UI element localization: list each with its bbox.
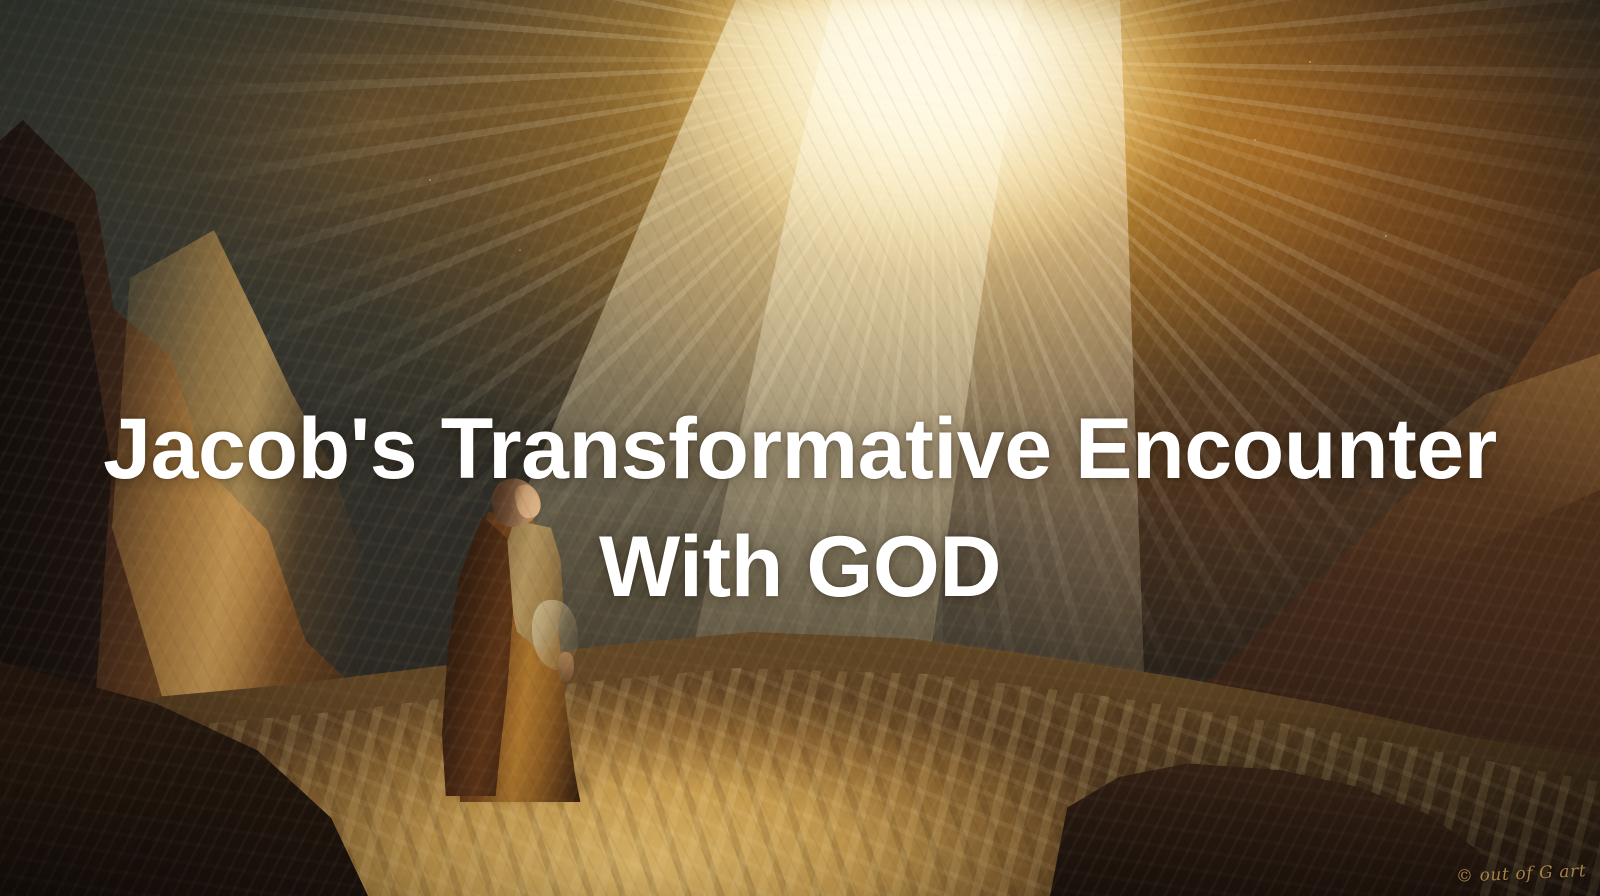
title-card-image: Jacob's Transformative Encounter With GO…	[0, 0, 1600, 896]
title-line-1: Jacob's Transformative Encounter	[0, 390, 1600, 508]
figure-hand	[558, 652, 574, 682]
page-title: Jacob's Transformative Encounter With GO…	[0, 390, 1600, 626]
title-line-2: With GOD	[0, 508, 1600, 626]
